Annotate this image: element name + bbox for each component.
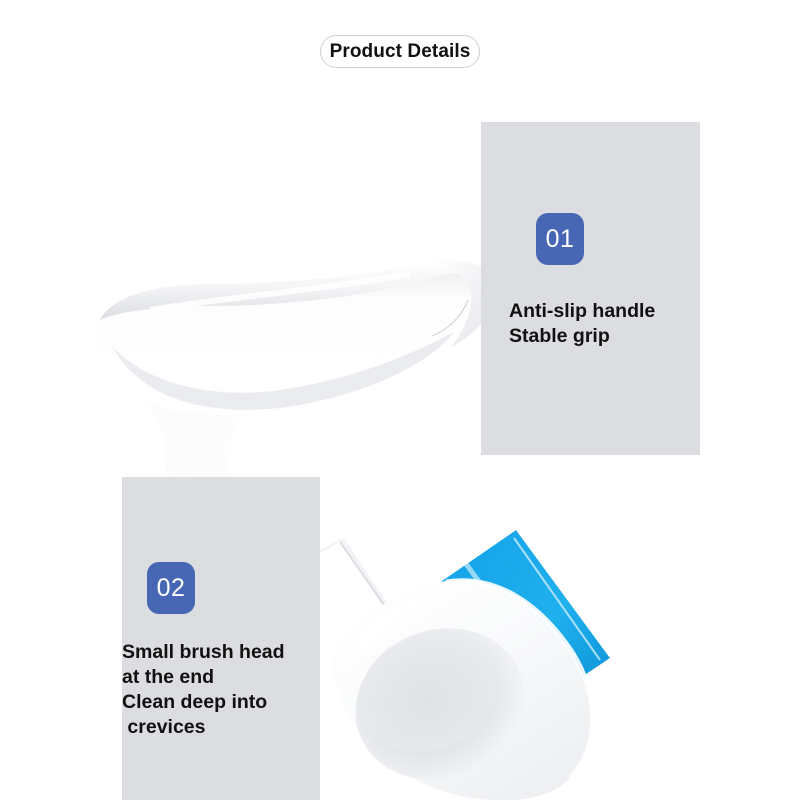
feature-badge-01: 01: [536, 213, 584, 265]
product-details-page: 01 Anti-slip handle Stable grip: [0, 0, 800, 800]
feature-text-01: Anti-slip handle Stable grip: [509, 299, 655, 349]
product-details-title-pill: Product Details: [320, 35, 480, 68]
feature-text-02: Small brush head at the end Clean deep i…: [122, 640, 285, 740]
brush-handle-photo: [80, 250, 500, 480]
page-title: Product Details: [330, 41, 471, 63]
feature-badge-02: 02: [147, 562, 195, 614]
brush-head-photo: [300, 520, 720, 800]
feature-badge-02-number: 02: [157, 574, 186, 603]
feature-panel-01: [481, 122, 700, 455]
feature-badge-01-number: 01: [546, 225, 575, 254]
feature-panel-02: [122, 477, 320, 800]
